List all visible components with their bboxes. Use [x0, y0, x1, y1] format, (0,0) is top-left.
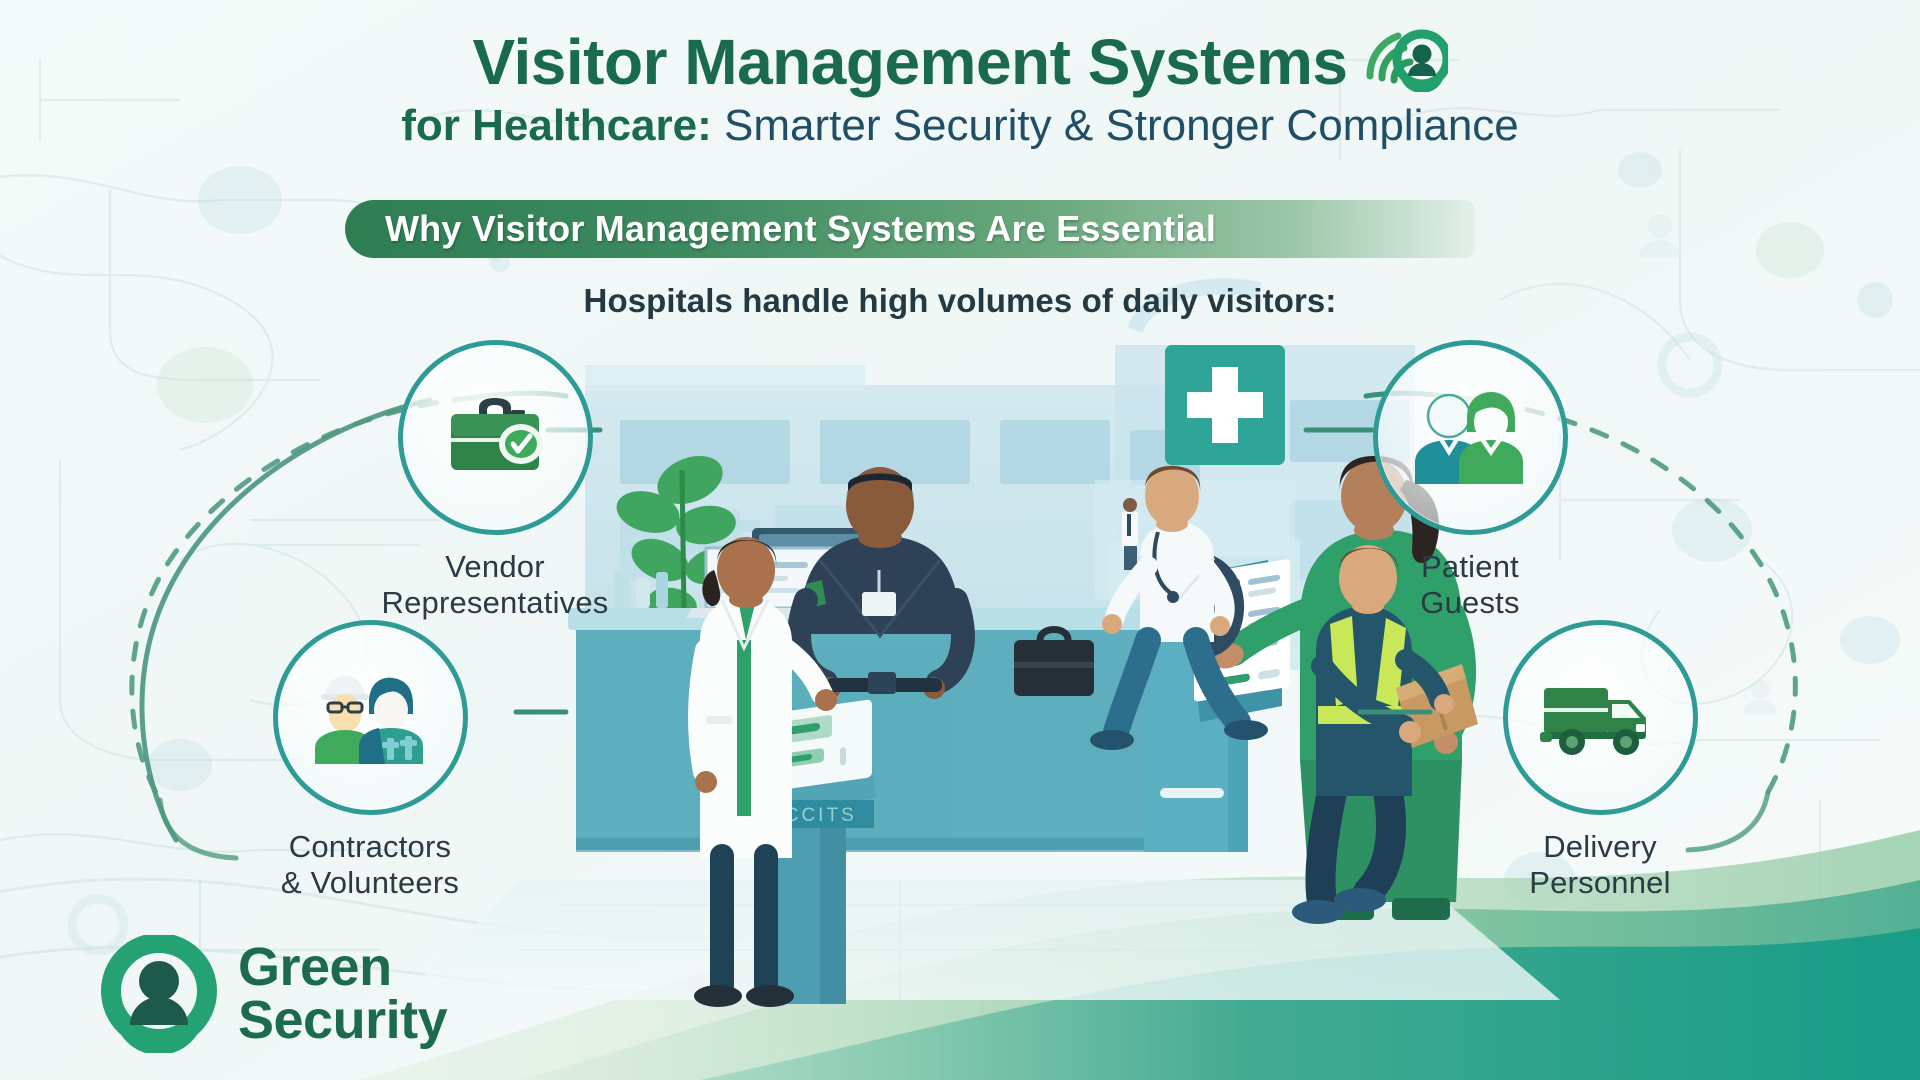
- brand-logo-text: Green Security: [238, 941, 447, 1047]
- category-label: Delivery Personnel: [1450, 829, 1750, 900]
- page-subtitle: for Healthcare: Smarter Security & Stron…: [0, 102, 1920, 150]
- category-label-line2: & Volunteers: [220, 865, 520, 901]
- two-workers-icon: [311, 672, 429, 764]
- brand-name-line2: Security: [238, 994, 447, 1047]
- title-navy-text: Smarter Security & Stronger Compliance: [724, 101, 1519, 150]
- brand-logo[interactable]: Green Security: [100, 935, 447, 1053]
- category-label-line2: Guests: [1320, 585, 1620, 621]
- section-intro-text: Hospitals handle high volumes of daily v…: [0, 282, 1920, 320]
- signal-person-icon: [1362, 26, 1448, 92]
- category-label: Contractors & Volunteers: [220, 829, 520, 900]
- section-banner: Why Visitor Management Systems Are Essen…: [345, 200, 1475, 258]
- category-label-line1: Vendor: [345, 549, 645, 585]
- category-icon-ring: [1503, 620, 1698, 815]
- category-label-line2: Personnel: [1450, 865, 1750, 901]
- briefcase-check-icon: [439, 390, 551, 486]
- category-label-line1: Delivery: [1450, 829, 1750, 865]
- green-security-person-icon: [100, 935, 218, 1053]
- infographic-canvas: CCCITS: [0, 0, 1920, 1080]
- category-icon-ring: [398, 340, 593, 535]
- category-label-line1: Patient: [1320, 549, 1620, 585]
- section-banner-label: Why Visitor Management Systems Are Essen…: [385, 208, 1216, 250]
- title-main-text: Visitor Management Systems: [472, 30, 1347, 95]
- category-label: Patient Guests: [1320, 549, 1620, 620]
- category-label: Vendor Representatives: [345, 549, 645, 620]
- category-label-line2: Representatives: [345, 585, 645, 621]
- title-block: Visitor Management Systems: [0, 30, 1920, 150]
- category-icon-ring: [1373, 340, 1568, 535]
- page-title: Visitor Management Systems: [0, 30, 1920, 96]
- title-green-text: for Healthcare:: [401, 101, 712, 150]
- category-icon-ring: [273, 620, 468, 815]
- category-contractors-volunteers[interactable]: Contractors & Volunteers: [220, 620, 520, 900]
- connector-arcs: [0, 0, 1920, 1080]
- delivery-truck-icon: [1538, 674, 1662, 762]
- category-label-line1: Contractors: [220, 829, 520, 865]
- category-vendor-representatives[interactable]: Vendor Representatives: [345, 340, 645, 620]
- category-patient-guests[interactable]: Patient Guests: [1320, 340, 1620, 620]
- two-people-icon: [1411, 392, 1529, 484]
- brand-name-line1: Green: [238, 941, 447, 994]
- category-delivery-personnel[interactable]: Delivery Personnel: [1450, 620, 1750, 900]
